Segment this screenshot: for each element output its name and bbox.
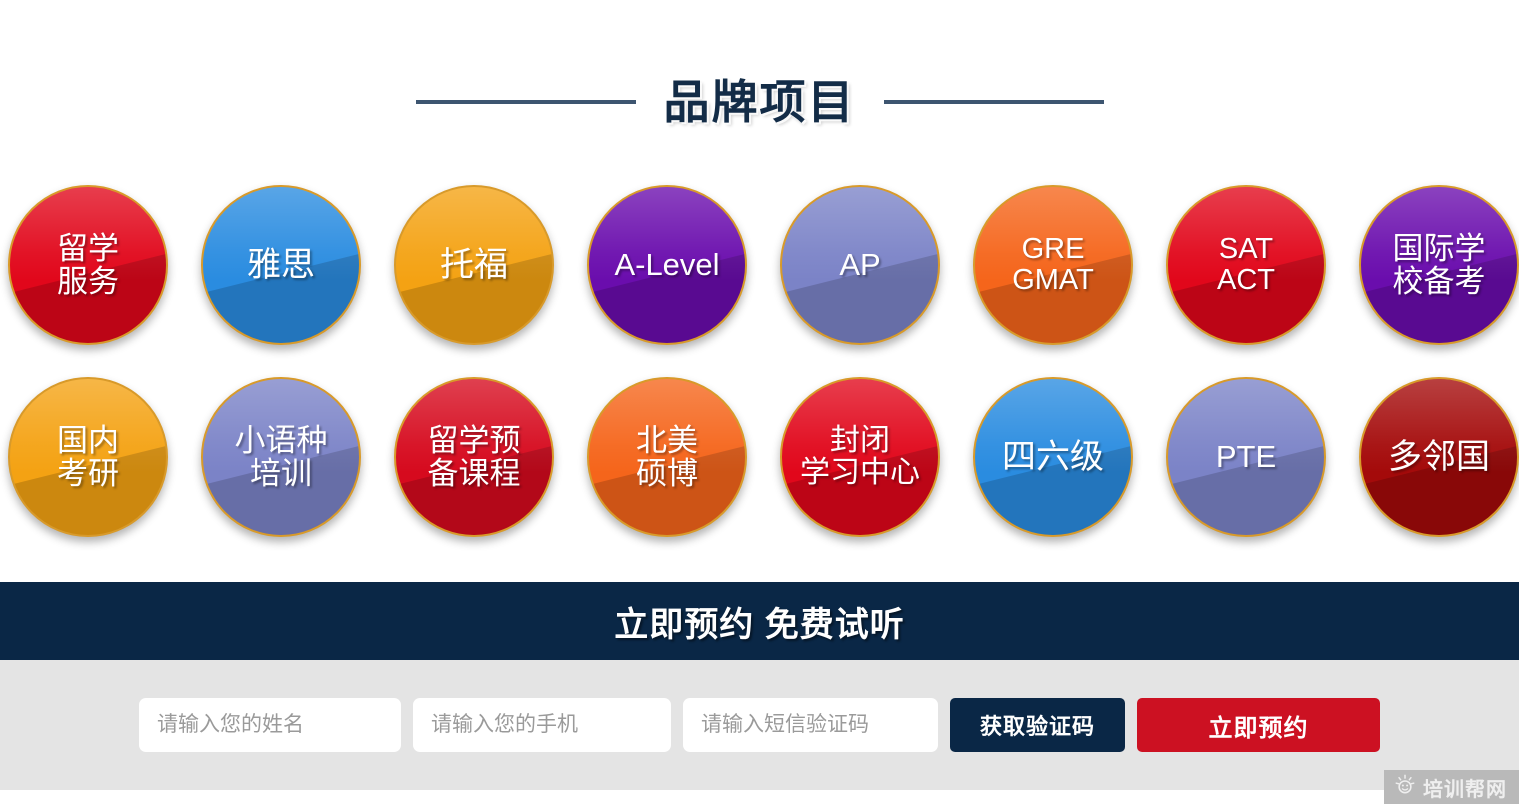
program-circle-label: A-Level [614, 248, 719, 281]
program-circle[interactable]: 多邻国 [1359, 377, 1519, 537]
program-circle[interactable]: 北美硕博 [587, 377, 747, 537]
title-rule-left [416, 100, 636, 104]
program-circle-label: 托福 [440, 247, 508, 284]
program-circle[interactable]: 雅思 [201, 185, 361, 345]
program-circle-label: 小语种培训 [235, 424, 328, 491]
program-circle-grid: 留学服务雅思托福A-LevelAPGREGMATSATACT国际学校备考 国内考… [8, 185, 1519, 537]
program-circle[interactable]: AP [780, 185, 940, 345]
sms-code-input[interactable] [683, 698, 938, 752]
program-circle-label: 国际学校备考 [1393, 232, 1486, 299]
program-circle[interactable]: PTE [1166, 377, 1326, 537]
program-circle-label: 留学预备课程 [428, 424, 521, 491]
name-input[interactable] [139, 698, 401, 752]
submit-appointment-button[interactable]: 立即预约 [1137, 698, 1380, 752]
sun-face-icon [1394, 774, 1416, 801]
appointment-banner-text: 立即预约 免费试听 [614, 597, 904, 646]
title-rule-right [884, 100, 1104, 104]
section-header: 品牌项目 [0, 62, 1519, 142]
program-circle[interactable]: 国内考研 [8, 377, 168, 537]
program-circle-label: 多邻国 [1388, 439, 1490, 476]
program-circle[interactable]: A-Level [587, 185, 747, 345]
program-circle[interactable]: 封闭学习中心 [780, 377, 940, 537]
program-circle[interactable]: 四六级 [973, 377, 1133, 537]
program-circle[interactable]: 留学预备课程 [394, 377, 554, 537]
program-circle[interactable]: 小语种培训 [201, 377, 361, 537]
program-circle-label: 北美硕博 [636, 424, 698, 491]
get-code-button[interactable]: 获取验证码 [950, 698, 1125, 752]
program-circle-label: 国内考研 [57, 424, 119, 491]
program-circle-label: 留学服务 [57, 232, 119, 299]
program-circle[interactable]: 留学服务 [8, 185, 168, 345]
program-circle-label: SATACT [1217, 234, 1275, 297]
program-circle-label: 封闭学习中心 [800, 425, 920, 490]
program-row-2: 国内考研小语种培训留学预备课程北美硕博封闭学习中心四六级PTE多邻国 [8, 377, 1519, 537]
watermark-label: 培训帮网 [1423, 773, 1507, 802]
program-circle[interactable]: 托福 [394, 185, 554, 345]
program-circle-label: AP [839, 248, 880, 281]
program-circle-label: 雅思 [247, 247, 315, 284]
program-circle[interactable]: 国际学校备考 [1359, 185, 1519, 345]
phone-input[interactable] [413, 698, 671, 752]
appointment-banner: 立即预约 免费试听 [0, 582, 1519, 660]
program-circle[interactable]: GREGMAT [973, 185, 1133, 345]
page-title: 品牌项目 [664, 79, 856, 125]
site-watermark: 培训帮网 [1384, 770, 1519, 804]
program-row-1: 留学服务雅思托福A-LevelAPGREGMATSATACT国际学校备考 [8, 185, 1519, 345]
program-circle-label: 四六级 [1002, 439, 1104, 476]
program-circle-label: PTE [1216, 440, 1276, 473]
appointment-form: 获取验证码 立即预约 [0, 660, 1519, 790]
program-circle[interactable]: SATACT [1166, 185, 1326, 345]
program-circle-label: GREGMAT [1012, 234, 1094, 297]
